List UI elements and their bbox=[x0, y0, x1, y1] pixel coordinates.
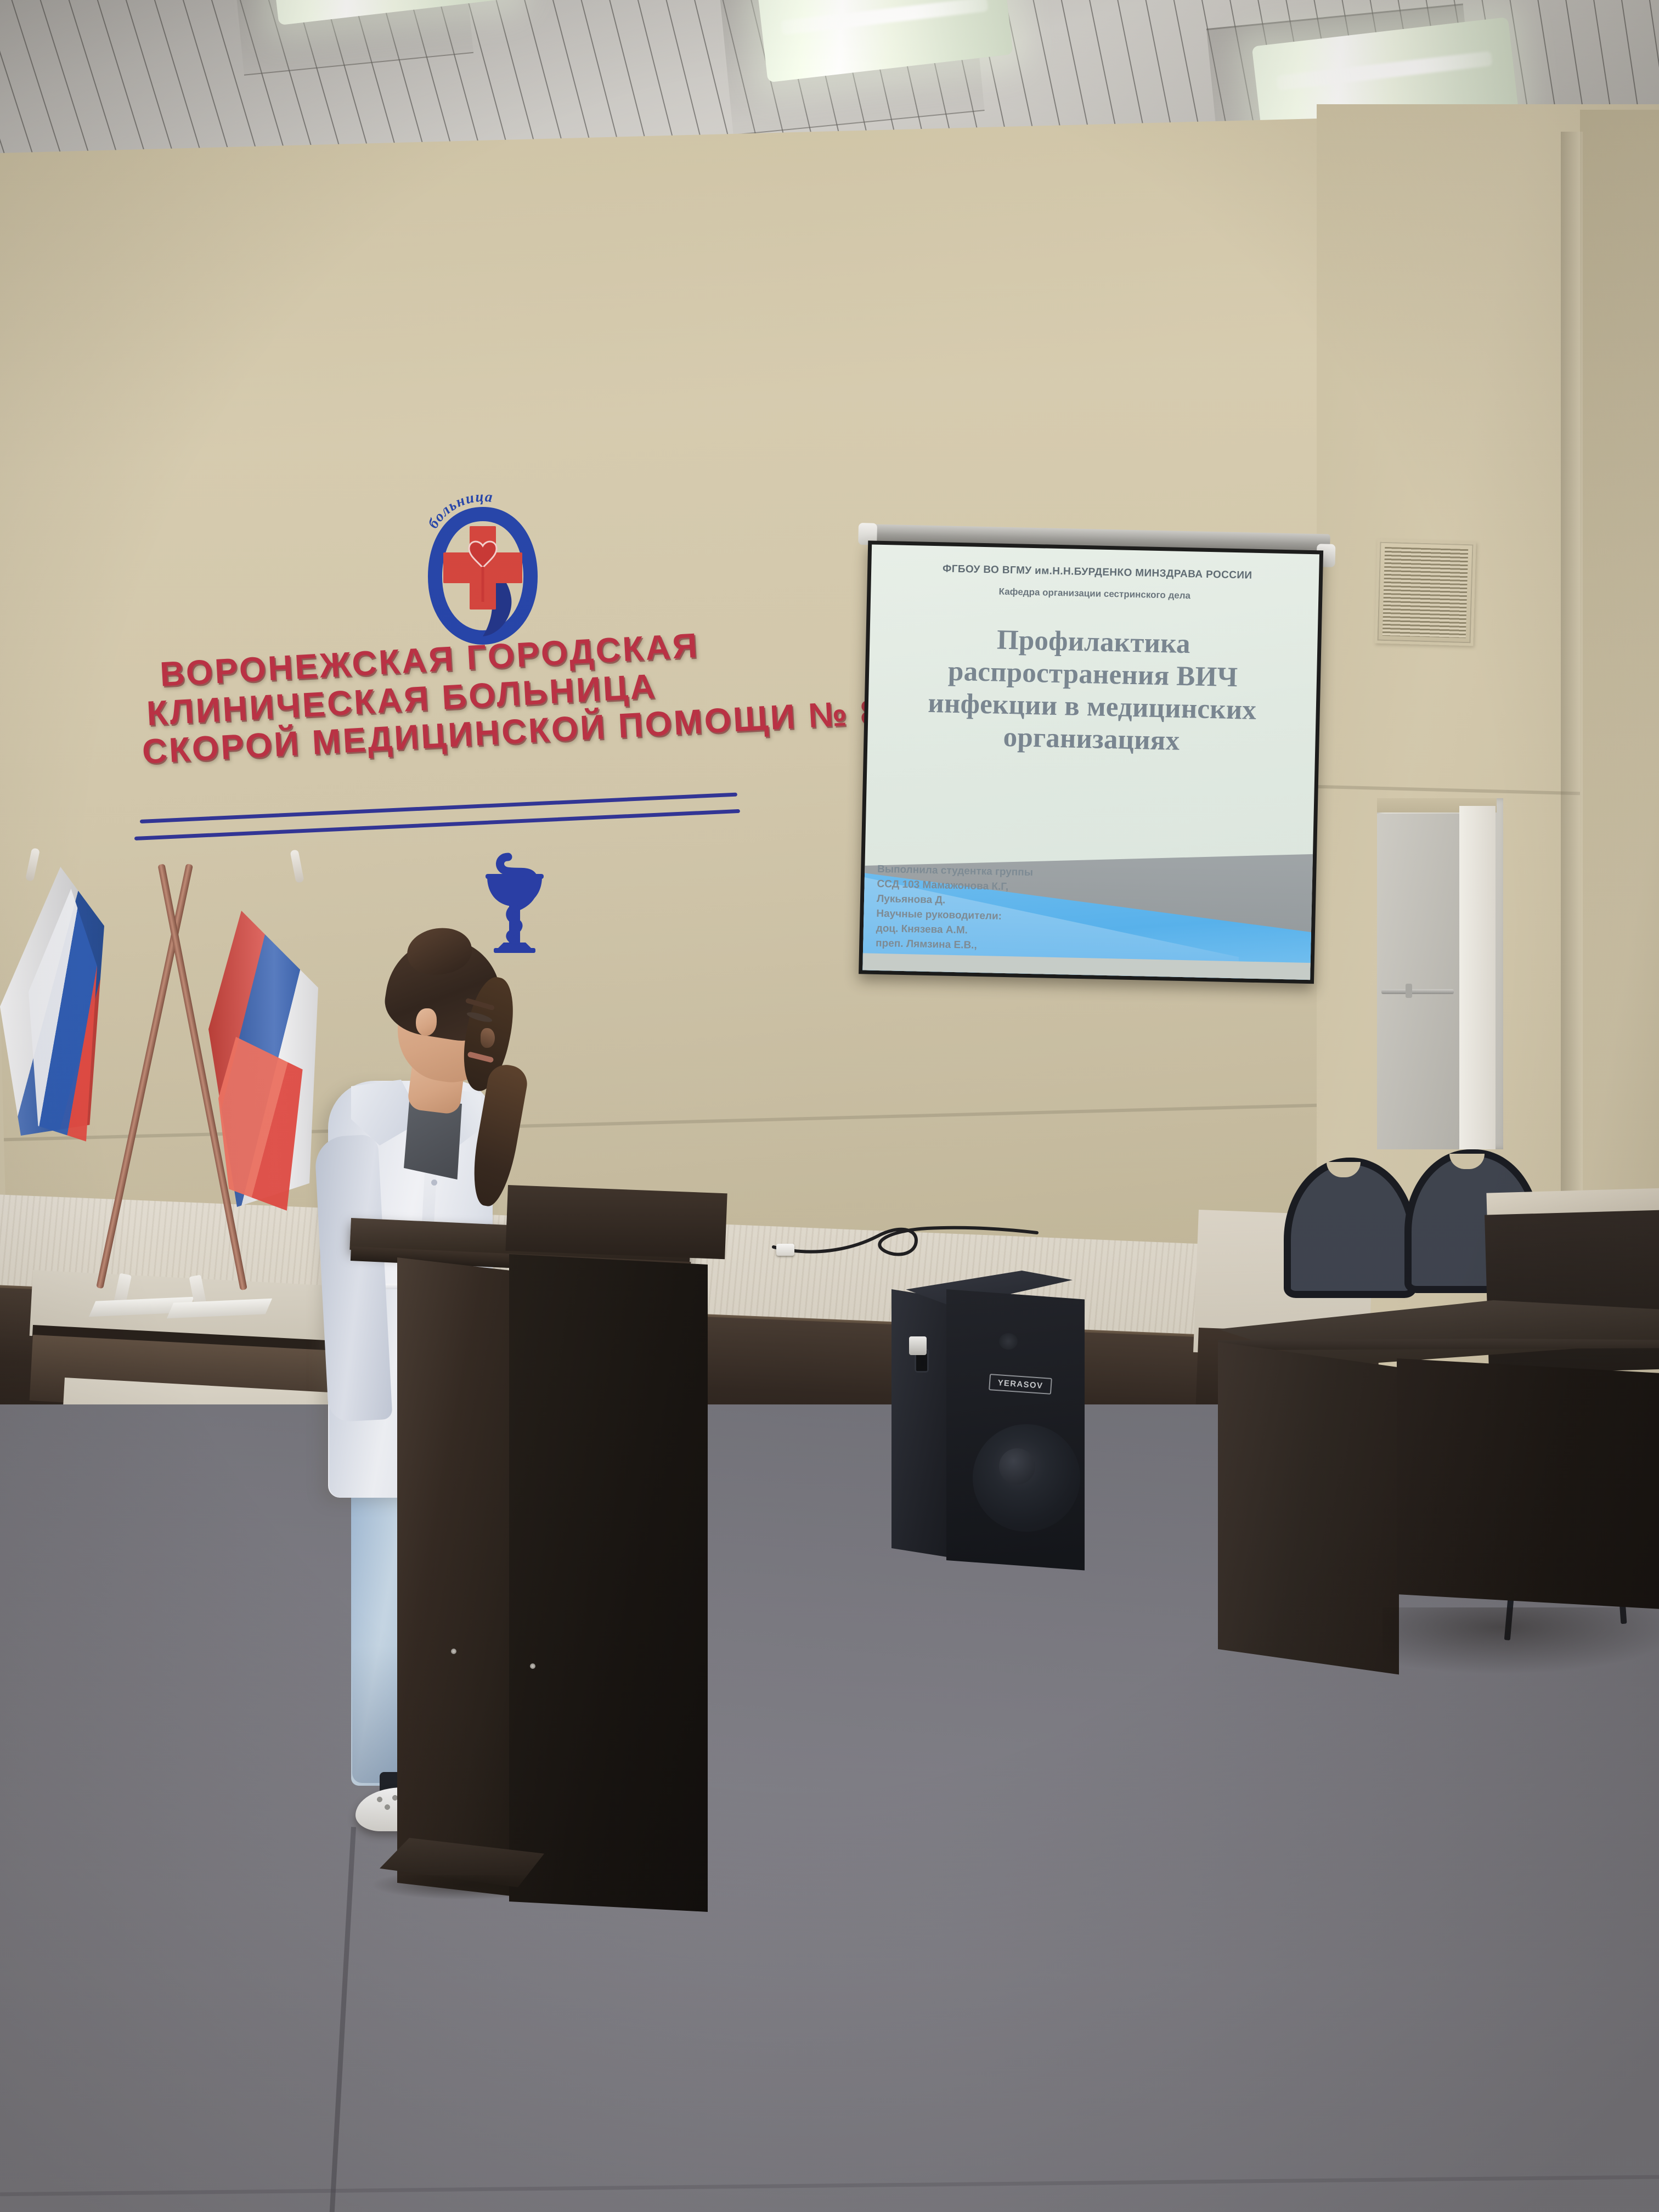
hospital-logo-icon: больница bbox=[417, 486, 549, 645]
coat-rack bbox=[1381, 989, 1454, 994]
lectern[interactable] bbox=[351, 1185, 724, 1882]
slide-department-line: Кафедра организации сестринского дела bbox=[898, 584, 1291, 604]
presenter-nose bbox=[481, 1028, 495, 1048]
slide-title: Профилактика распространения ВИЧ инфекци… bbox=[885, 622, 1300, 760]
audio-cable bbox=[752, 1204, 1037, 1270]
speaker-woofer-dustcap bbox=[999, 1448, 1035, 1485]
desk-front[interactable] bbox=[1218, 1300, 1659, 1695]
wall-corner bbox=[1561, 132, 1583, 1339]
lectern-front-panel bbox=[397, 1257, 513, 1897]
hospital-logo-arc-text: больница bbox=[427, 482, 540, 548]
screen-frame: ФГБОУ ВО ВГМУ им.Н.Н.БУРДЕНКО МИНЗДРАВА … bbox=[859, 540, 1323, 984]
logo-arc-label: больница bbox=[425, 488, 494, 531]
presentation-slide: ФГБОУ ВО ВГМУ им.Н.Н.БУРДЕНКО МИНЗДРАВА … bbox=[862, 545, 1319, 980]
lectern-side-panel bbox=[509, 1254, 708, 1912]
loudspeaker-icon: YERASOV bbox=[891, 1267, 1089, 1564]
slide-footer: Выполнила студентка группы ССД 103 Мамаж… bbox=[876, 862, 1235, 959]
coat-rack-post bbox=[1406, 984, 1412, 998]
projector-screen[interactable]: ФГБОУ ВО ВГМУ им.Н.Н.БУРДЕНКО МИНЗДРАВА … bbox=[848, 524, 1333, 1009]
speaker-handle-clip bbox=[909, 1336, 927, 1355]
speaker-side bbox=[891, 1289, 949, 1557]
lectern-base-shadow bbox=[373, 1875, 554, 1899]
desk-left-panel bbox=[1218, 1342, 1399, 1674]
flag-pole-tip bbox=[25, 848, 40, 882]
presenter-ear bbox=[416, 1008, 437, 1036]
lectern-screw bbox=[451, 1649, 456, 1654]
speaker-tweeter bbox=[999, 1333, 1018, 1350]
far-right-wall bbox=[1580, 110, 1659, 1350]
lectern-top-right bbox=[505, 1185, 727, 1259]
flag-stand bbox=[167, 1299, 272, 1318]
slide-university-line: ФГБОУ ВО ВГМУ им.Н.Н.БУРДЕНКО МИНЗДРАВА … bbox=[889, 562, 1306, 583]
flag-pole-tip bbox=[290, 849, 304, 883]
ventilation-grille-icon bbox=[1374, 539, 1476, 646]
chair[interactable] bbox=[1284, 1158, 1415, 1322]
lectern-screw bbox=[530, 1663, 535, 1669]
photo-scene: больница ВОРОНЕЖСКАЯ ГОРОДСКАЯ КЛИНИЧЕСК… bbox=[0, 0, 1659, 2212]
cable-plug bbox=[776, 1244, 794, 1256]
desk-front-panel bbox=[1397, 1358, 1659, 1609]
desk-shadow bbox=[1383, 1607, 1659, 1673]
doorway-alcove[interactable] bbox=[1377, 798, 1503, 1149]
svg-text:больница: больница bbox=[425, 488, 494, 531]
